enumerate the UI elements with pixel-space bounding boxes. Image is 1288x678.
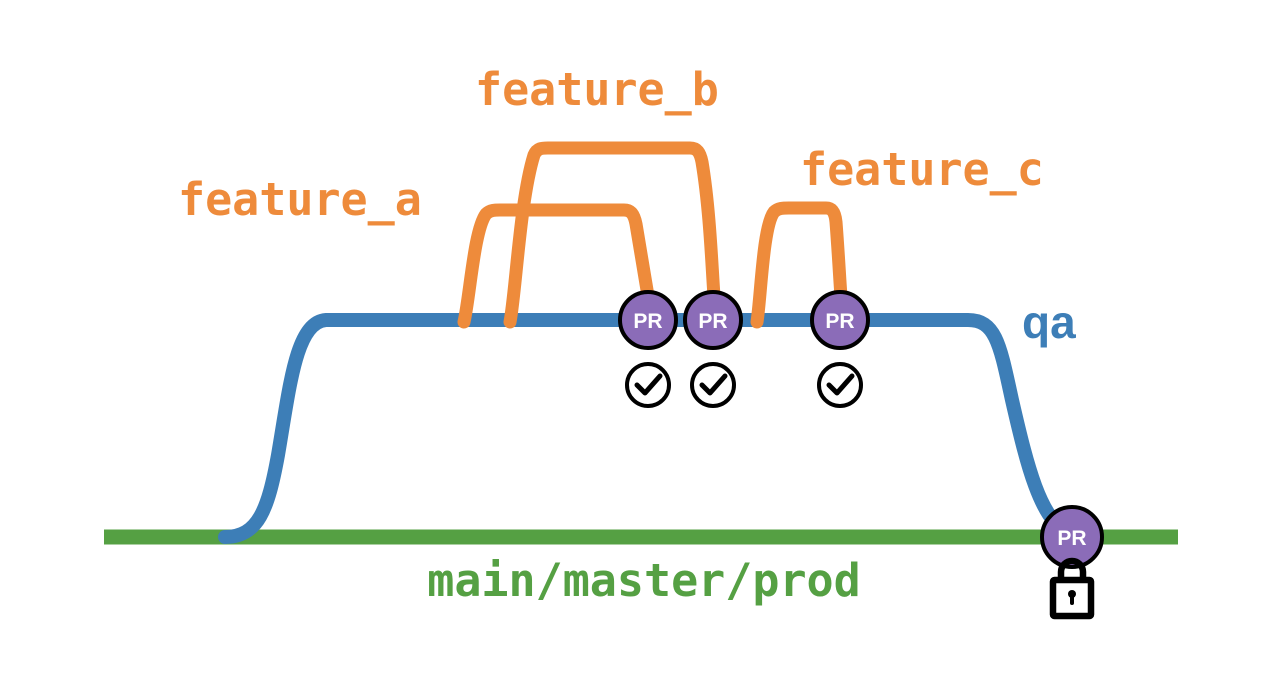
branch-label-main: main/master/prod [427, 554, 860, 607]
check-circle-icon [819, 364, 861, 406]
pr-node-feature-a[interactable]: PR [620, 292, 676, 348]
branch-label-feature_a: feature_a [178, 173, 422, 226]
check-circle-icon [627, 364, 669, 406]
pr-node-label: PR [825, 310, 854, 333]
pr-node-feature-c[interactable]: PR [812, 292, 868, 348]
branch-label-qa: qa [1022, 296, 1076, 348]
pr-node-label: PR [698, 310, 727, 333]
diagram-canvas: PR PR PR PR [0, 0, 1288, 678]
check-circle-icon [692, 364, 734, 406]
branch-line-feature_a [464, 210, 648, 322]
branch-line-qa [225, 320, 1066, 537]
lock-icon [1053, 561, 1091, 616]
branch-label-feature_c: feature_c [800, 143, 1044, 196]
git-branching-diagram: PR PR PR PR [0, 0, 1288, 678]
branch-label-feature_b: feature_b [475, 63, 719, 116]
pr-node-label: PR [633, 310, 662, 333]
pr-node-label: PR [1057, 527, 1086, 550]
branch-line-feature_b [510, 148, 714, 322]
pr-node-feature-b[interactable]: PR [685, 292, 741, 348]
